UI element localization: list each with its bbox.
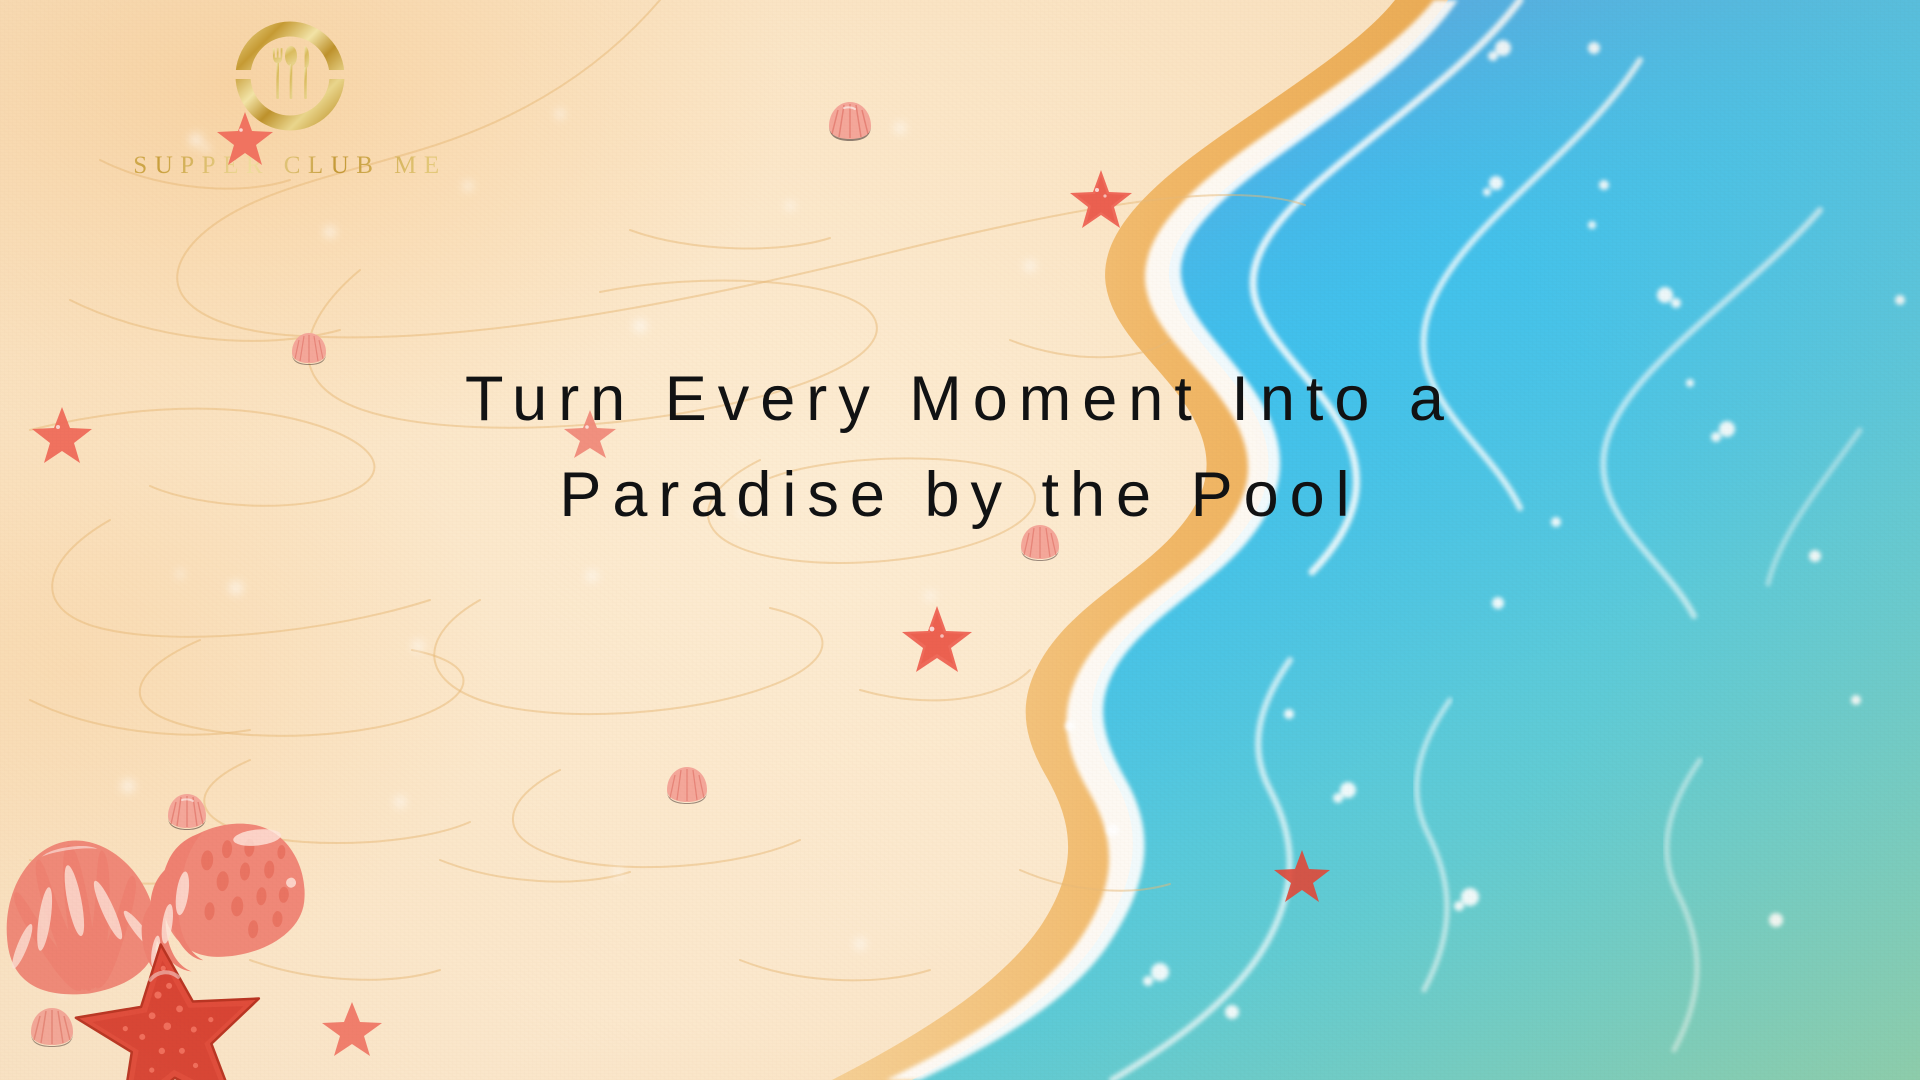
seashell-corner-bottom-left-icon [28, 1004, 76, 1048]
starfish-small-upper-right-icon [1068, 168, 1134, 230]
headline-line-1: Turn Every Moment Into a [0, 352, 1920, 448]
headline-line-2: Paradise by the Pool [0, 448, 1920, 544]
seashell-small-top-icon [826, 98, 874, 142]
seashell-bottom-center-icon [664, 764, 710, 806]
brand-logo[interactable]: SUPPER CLUB ME [55, 18, 525, 180]
headline: Turn Every Moment Into a Paradise by the… [0, 352, 1920, 544]
brand-name: SUPPER CLUB ME [55, 152, 525, 180]
starfish-center-lower-icon [900, 604, 974, 674]
starfish-right-shore-icon [1272, 848, 1332, 904]
starfish-logo-accent-icon [214, 110, 276, 168]
starfish-bottom-left-small-icon [320, 1000, 384, 1058]
beach-promo-banner: SUPPER CLUB ME Turn Every Moment Into a … [0, 0, 1920, 1080]
starfish-large-bottom-left-icon [70, 938, 270, 1080]
